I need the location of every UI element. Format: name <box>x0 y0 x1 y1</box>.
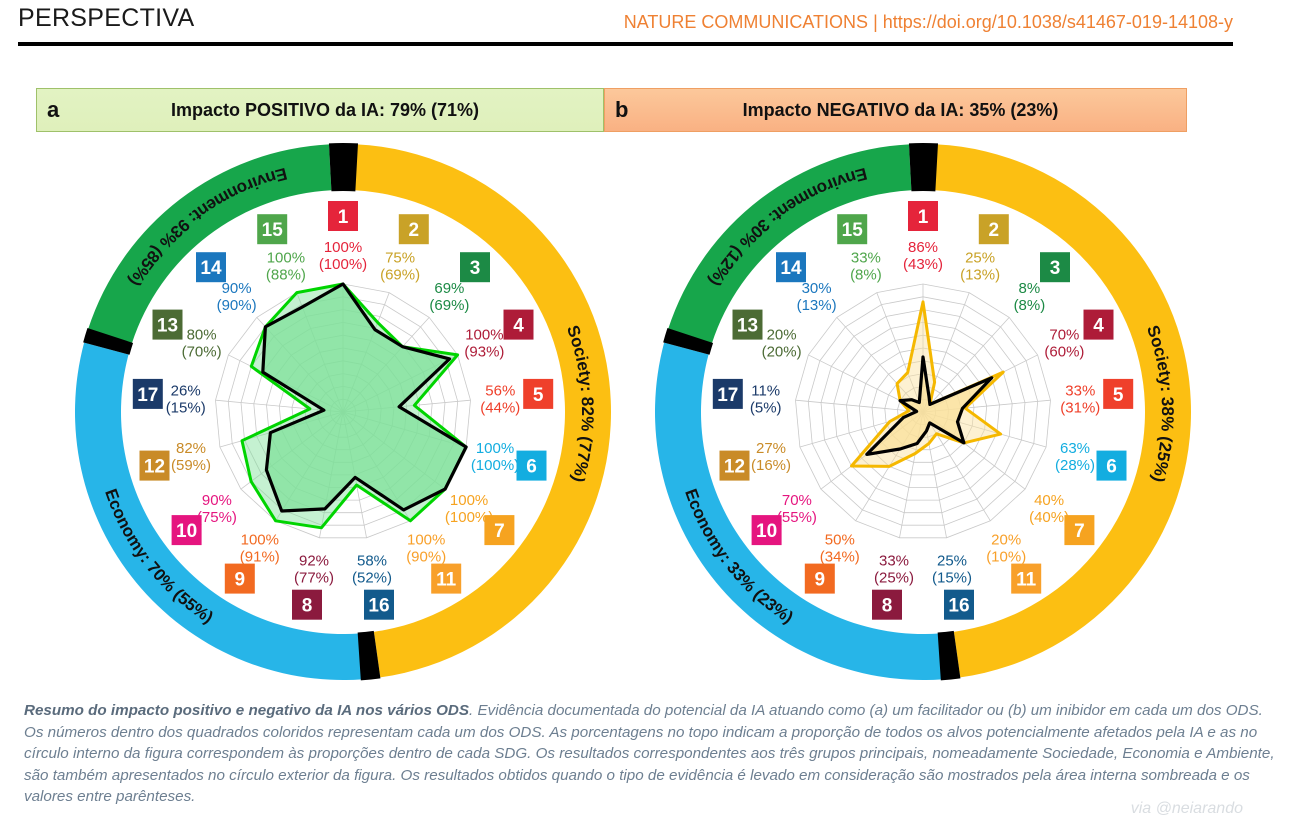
sdg-value-label-12: 82%(59%) <box>171 440 211 474</box>
sdg-value-label-3: 8%(8%) <box>1014 280 1046 314</box>
radar-svg-a: Society: 82% (77%)Economy: 70% (55%)Envi… <box>58 140 628 685</box>
sdg-value-paren-11: (10%) <box>986 548 1026 565</box>
sdg-badge-number-16: 16 <box>368 596 389 617</box>
sdg-value-main-8: 92% <box>299 552 329 569</box>
sdg-value-label-7: 100%(100%) <box>445 492 493 526</box>
sdg-badge-number-14: 14 <box>200 258 222 279</box>
sdg-badge-number-13: 13 <box>157 316 178 337</box>
sdg-value-paren-6: (100%) <box>471 457 519 474</box>
journal-doi-link[interactable]: NATURE COMMUNICATIONS | https://doi.org/… <box>624 12 1233 33</box>
sdg-value-paren-7: (40%) <box>1029 509 1069 526</box>
sdg-value-paren-10: (75%) <box>197 509 237 526</box>
sdg-value-label-2: 25%(13%) <box>960 250 1000 284</box>
sdg-value-paren-8: (77%) <box>294 569 334 586</box>
sdg-badge-number-10: 10 <box>756 521 777 542</box>
sdg-value-paren-1: (43%) <box>903 256 943 273</box>
sdg-value-main-3: 69% <box>434 280 464 297</box>
sdg-value-label-5: 33%(31%) <box>1060 382 1100 416</box>
panel-letter-b: b <box>615 97 641 123</box>
sdg-value-label-17: 11%(5%) <box>750 382 782 416</box>
sdg-value-paren-3: (8%) <box>1014 297 1046 314</box>
sdg-badge-number-7: 7 <box>494 521 505 542</box>
sdg-badge-number-8: 8 <box>882 596 893 617</box>
sdg-value-label-9: 50%(34%) <box>820 531 860 565</box>
sdg-value-paren-4: (93%) <box>464 344 504 361</box>
sdg-badge-number-6: 6 <box>1106 457 1117 478</box>
caption-lead: Resumo do impacto positivo e negativo da… <box>24 702 469 719</box>
sdg-value-label-7: 40%(40%) <box>1029 492 1069 526</box>
sdg-value-main-10: 90% <box>202 492 232 509</box>
sdg-badge-14[interactable]: 14 <box>196 252 226 282</box>
sdg-value-main-14: 90% <box>222 280 252 297</box>
sdg-badge-12[interactable]: 12 <box>140 451 170 481</box>
sdg-badge-6[interactable]: 6 <box>517 451 547 481</box>
sdg-value-paren-4: (60%) <box>1044 344 1084 361</box>
sdg-value-label-10: 70%(55%) <box>777 492 817 526</box>
sdg-value-paren-16: (52%) <box>352 569 392 586</box>
sdg-value-label-9: 100%(91%) <box>240 531 280 565</box>
sdg-value-main-5: 56% <box>485 382 515 399</box>
sdg-badge-number-17: 17 <box>717 385 738 406</box>
sdg-value-main-17: 26% <box>171 382 201 399</box>
sdg-badge-12[interactable]: 12 <box>720 451 750 481</box>
sdg-value-paren-5: (44%) <box>480 399 520 416</box>
sdg-value-label-5: 56%(44%) <box>480 382 520 416</box>
sdg-value-label-17: 26%(15%) <box>166 382 206 416</box>
sdg-badge-number-8: 8 <box>302 596 313 617</box>
sdg-value-paren-17: (5%) <box>750 399 782 416</box>
sdg-badge-4[interactable]: 4 <box>504 310 534 340</box>
sdg-value-paren-17: (15%) <box>166 399 206 416</box>
sdg-badge-15[interactable]: 15 <box>837 214 867 244</box>
sdg-value-main-13: 20% <box>767 327 797 344</box>
sdg-value-main-6: 100% <box>476 440 514 457</box>
sdg-badge-3[interactable]: 3 <box>1040 252 1070 282</box>
sdg-badge-number-16: 16 <box>948 596 969 617</box>
sdg-badge-11[interactable]: 11 <box>431 564 461 594</box>
sdg-value-main-2: 25% <box>965 250 995 267</box>
sdg-value-main-11: 20% <box>991 531 1021 548</box>
sdg-value-paren-8: (25%) <box>874 569 914 586</box>
sdg-badge-4[interactable]: 4 <box>1084 310 1114 340</box>
sdg-value-label-6: 100%(100%) <box>471 440 519 474</box>
sdg-value-main-15: 33% <box>851 250 881 267</box>
sdg-value-main-7: 40% <box>1034 492 1064 509</box>
sdg-badge-14[interactable]: 14 <box>776 252 806 282</box>
sdg-badge-number-17: 17 <box>137 385 158 406</box>
sdg-value-label-8: 33%(25%) <box>874 552 914 586</box>
header-divider <box>18 42 1233 46</box>
sdg-badge-number-5: 5 <box>1113 385 1124 406</box>
sdg-badge-8[interactable]: 8 <box>872 590 902 620</box>
sdg-badge-16[interactable]: 16 <box>364 590 394 620</box>
sdg-value-main-10: 70% <box>782 492 812 509</box>
panel-header-b: b Impacto NEGATIVO da IA: 35% (23%) <box>604 88 1187 132</box>
sdg-badge-number-9: 9 <box>235 570 246 591</box>
sdg-badge-1[interactable]: 1 <box>328 201 358 231</box>
sdg-value-label-11: 100%(90%) <box>406 531 446 565</box>
sdg-value-main-5: 33% <box>1065 382 1095 399</box>
sdg-value-paren-2: (13%) <box>960 267 1000 284</box>
sdg-badge-number-4: 4 <box>1093 316 1104 337</box>
ring-separator <box>329 143 358 191</box>
sdg-value-label-11: 20%(10%) <box>986 531 1026 565</box>
sdg-value-paren-14: (90%) <box>217 297 257 314</box>
sdg-value-main-3: 8% <box>1019 280 1041 297</box>
sdg-badge-11[interactable]: 11 <box>1011 564 1041 594</box>
sdg-badge-number-9: 9 <box>815 570 826 591</box>
sdg-value-paren-2: (69%) <box>380 267 420 284</box>
sdg-value-main-1: 100% <box>324 239 362 256</box>
page-header: PERSPECTIVA NATURE COMMUNICATIONS | http… <box>0 0 1305 46</box>
sdg-badge-number-1: 1 <box>918 207 929 228</box>
sdg-value-paren-12: (59%) <box>171 457 211 474</box>
sdg-value-paren-7: (100%) <box>445 509 493 526</box>
sdg-value-label-4: 70%(60%) <box>1044 327 1084 361</box>
sdg-badge-number-3: 3 <box>470 258 481 279</box>
sdg-value-label-14: 30%(13%) <box>797 280 837 314</box>
sdg-badge-number-11: 11 <box>436 570 457 591</box>
sdg-badge-number-6: 6 <box>526 457 537 478</box>
sdg-value-paren-11: (90%) <box>406 548 446 565</box>
sdg-badge-17[interactable]: 17 <box>133 379 163 409</box>
sdg-value-label-16: 25%(15%) <box>932 552 972 586</box>
sdg-value-main-2: 75% <box>385 250 415 267</box>
radar-chart-positive: Society: 82% (77%)Economy: 70% (55%)Envi… <box>58 140 628 685</box>
ring-segment-environment <box>668 144 911 343</box>
sdg-value-main-4: 70% <box>1049 327 1079 344</box>
sdg-value-main-4: 100% <box>465 327 503 344</box>
panel-header-a: a Impacto POSITIVO da IA: 79% (71%) <box>36 88 604 132</box>
sdg-value-paren-15: (88%) <box>266 267 306 284</box>
sdg-value-label-8: 92%(77%) <box>294 552 334 586</box>
sdg-badge-number-1: 1 <box>338 207 349 228</box>
sdg-badge-9[interactable]: 9 <box>805 564 835 594</box>
sdg-value-paren-15: (8%) <box>850 267 882 284</box>
sdg-badge-number-13: 13 <box>737 316 758 337</box>
sdg-value-paren-12: (16%) <box>751 457 791 474</box>
sdg-value-main-14: 30% <box>802 280 832 297</box>
sdg-value-paren-3: (69%) <box>429 297 469 314</box>
sdg-badge-number-11: 11 <box>1016 570 1037 591</box>
sdg-value-label-1: 100%(100%) <box>319 239 367 273</box>
watermark-credit: via @neiarando <box>1131 800 1243 818</box>
sdg-value-main-9: 50% <box>825 531 855 548</box>
sdg-badge-6[interactable]: 6 <box>1097 451 1127 481</box>
panel-letter-a: a <box>47 97 73 123</box>
sdg-value-paren-5: (31%) <box>1060 399 1100 416</box>
sdg-value-paren-9: (91%) <box>240 548 280 565</box>
sdg-badge-17[interactable]: 17 <box>713 379 743 409</box>
sdg-value-paren-6: (28%) <box>1055 457 1095 474</box>
sdg-badge-number-15: 15 <box>842 220 864 241</box>
sdg-badge-number-5: 5 <box>533 385 544 406</box>
sdg-value-label-4: 100%(93%) <box>464 327 504 361</box>
sdg-value-main-12: 27% <box>756 440 786 457</box>
sdg-badge-number-2: 2 <box>409 220 420 241</box>
sdg-value-main-8: 33% <box>879 552 909 569</box>
sdg-value-label-10: 90%(75%) <box>197 492 237 526</box>
sdg-value-label-3: 69%(69%) <box>429 280 469 314</box>
sdg-value-main-16: 25% <box>937 552 967 569</box>
sdg-badge-13[interactable]: 13 <box>153 310 183 340</box>
sdg-value-main-13: 80% <box>187 327 217 344</box>
sdg-value-paren-10: (55%) <box>777 509 817 526</box>
sdg-value-paren-1: (100%) <box>319 256 367 273</box>
panel-title-a: Impacto POSITIVO da IA: 79% (71%) <box>73 100 577 121</box>
ring-separator <box>909 143 938 191</box>
sdg-badge-number-14: 14 <box>780 258 802 279</box>
figure-caption: Resumo do impacto positivo e negativo da… <box>24 700 1282 808</box>
sdg-value-label-16: 58%(52%) <box>352 552 392 586</box>
sdg-badge-number-4: 4 <box>513 316 524 337</box>
sdg-value-main-15: 100% <box>267 250 305 267</box>
sdg-value-paren-16: (15%) <box>932 569 972 586</box>
sdg-value-main-9: 100% <box>241 531 279 548</box>
sdg-badge-3[interactable]: 3 <box>460 252 490 282</box>
sdg-badge-number-10: 10 <box>176 521 197 542</box>
radar-chart-negative: Society: 38% (25%)Economy: 33% (23%)Envi… <box>638 140 1208 685</box>
sdg-badge-number-3: 3 <box>1050 258 1061 279</box>
sdg-badge-8[interactable]: 8 <box>292 590 322 620</box>
sdg-badge-16[interactable]: 16 <box>944 590 974 620</box>
sdg-value-main-1: 86% <box>908 239 938 256</box>
sdg-value-paren-14: (13%) <box>797 297 837 314</box>
sdg-value-main-6: 63% <box>1060 440 1090 457</box>
sdg-value-label-12: 27%(16%) <box>751 440 791 474</box>
sdg-value-label-2: 75%(69%) <box>380 250 420 284</box>
sdg-badge-1[interactable]: 1 <box>908 201 938 231</box>
sdg-badge-number-2: 2 <box>989 220 1000 241</box>
panel-title-b: Impacto NEGATIVO da IA: 35% (23%) <box>641 100 1160 121</box>
sdg-value-label-13: 80%(70%) <box>182 327 222 361</box>
sdg-badge-5[interactable]: 5 <box>1103 379 1133 409</box>
sdg-badge-15[interactable]: 15 <box>257 214 287 244</box>
sdg-value-paren-9: (34%) <box>820 548 860 565</box>
sdg-badge-number-12: 12 <box>724 457 745 478</box>
sdg-value-label-15: 33%(8%) <box>850 250 882 284</box>
sdg-value-main-12: 82% <box>176 440 206 457</box>
sdg-value-label-15: 100%(88%) <box>266 250 306 284</box>
page-title: PERSPECTIVA <box>18 4 195 33</box>
sdg-badge-number-15: 15 <box>262 220 284 241</box>
sdg-value-label-1: 86%(43%) <box>903 239 943 273</box>
sdg-value-label-14: 90%(90%) <box>217 280 257 314</box>
sdg-value-label-13: 20%(20%) <box>762 327 802 361</box>
sdg-value-paren-13: (20%) <box>762 344 802 361</box>
sdg-badge-2[interactable]: 2 <box>399 214 429 244</box>
sdg-badge-13[interactable]: 13 <box>733 310 763 340</box>
sdg-badge-5[interactable]: 5 <box>523 379 553 409</box>
sdg-badge-number-12: 12 <box>144 457 165 478</box>
radar-svg-b: Society: 38% (25%)Economy: 33% (23%)Envi… <box>638 140 1208 685</box>
sdg-value-main-16: 58% <box>357 552 387 569</box>
sdg-badge-number-7: 7 <box>1074 521 1085 542</box>
sdg-badge-2[interactable]: 2 <box>979 214 1009 244</box>
sdg-value-main-17: 11% <box>751 382 780 399</box>
sdg-value-paren-13: (70%) <box>182 344 222 361</box>
sdg-badge-9[interactable]: 9 <box>225 564 255 594</box>
sdg-value-main-11: 100% <box>407 531 445 548</box>
sdg-value-main-7: 100% <box>450 492 488 509</box>
sdg-value-label-6: 63%(28%) <box>1055 440 1095 474</box>
